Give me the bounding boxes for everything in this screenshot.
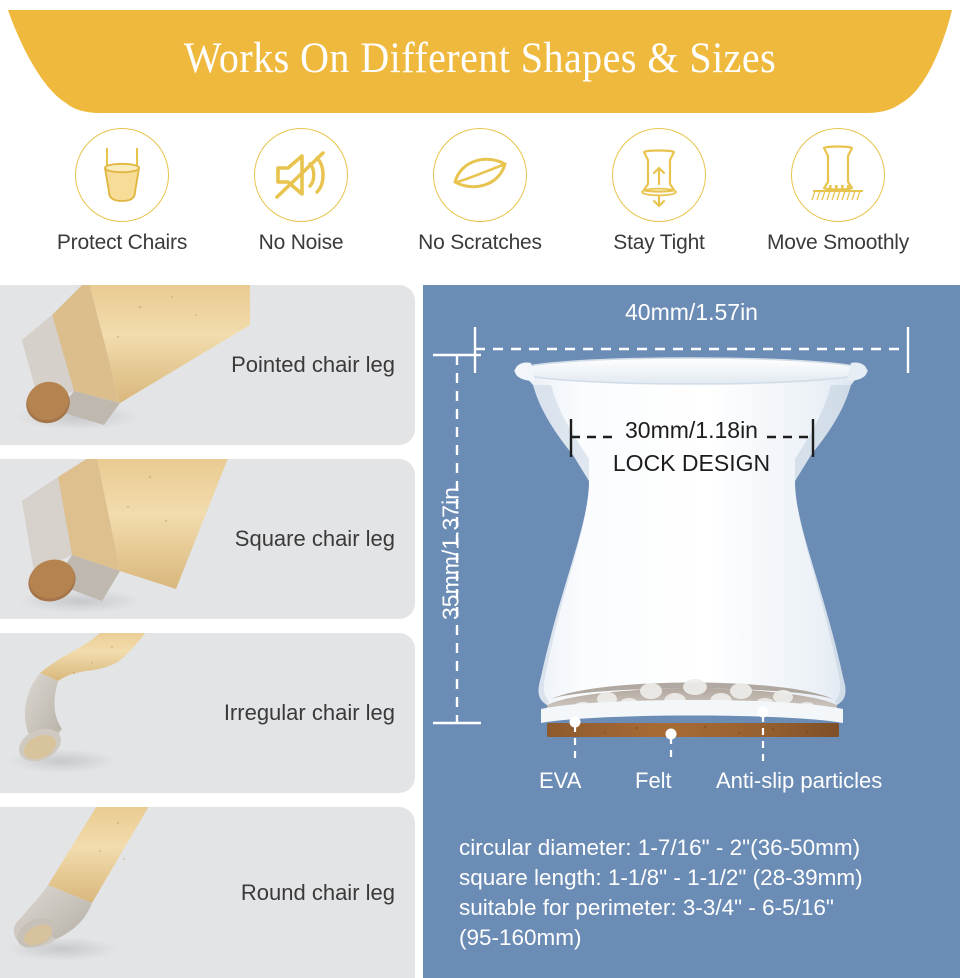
feature-move-smoothly: Move Smoothly (750, 128, 926, 268)
feature-label: No Noise (259, 231, 344, 255)
round-leg-photo (0, 807, 250, 978)
feature-label: Move Smoothly (767, 231, 909, 255)
feature-icon-circle (791, 128, 885, 222)
leg-card-round: Round chair leg (0, 807, 415, 978)
feature-no-noise: No Noise (213, 128, 389, 268)
banner: Works On Different Shapes & Sizes (0, 0, 960, 120)
height-dimension-label: 35mm/1.37in (438, 454, 465, 654)
leg-card-label: Pointed chair leg (231, 352, 395, 378)
leg-card-label: Irregular chair leg (224, 700, 395, 726)
specification-list: circular diameter: 1-7/16" - 2"(36-50mm)… (459, 833, 959, 953)
feature-stay-tight: Stay Tight (571, 128, 747, 268)
leg-card-pointed: Pointed chair leg (0, 285, 415, 445)
leaf-icon (447, 142, 513, 208)
leg-card-square: Square chair leg (0, 459, 415, 619)
lock-design-label: LOCK DESIGN (423, 450, 960, 477)
width-dimension-label: 40mm/1.57in (423, 299, 960, 326)
irregular-leg-photo (0, 633, 250, 793)
page-title: Works On Different Shapes & Sizes (34, 34, 927, 83)
feature-icon-circle (612, 128, 706, 222)
feature-label: Protect Chairs (57, 231, 187, 255)
feature-protect-chairs: Protect Chairs (34, 128, 210, 268)
leg-card-irregular: Irregular chair leg (0, 633, 415, 793)
feature-icon-circle (254, 128, 348, 222)
leg-card-label: Round chair leg (241, 880, 395, 906)
lock-width-dimension-label: 30mm/1.18in (423, 417, 960, 444)
feature-icon-circle (433, 128, 527, 222)
product-diagram (423, 285, 960, 825)
feature-icon-circle (75, 128, 169, 222)
muted-speaker-icon (268, 142, 334, 208)
leg-card-label: Square chair leg (235, 526, 395, 552)
callout-label-eva: EVA (539, 768, 581, 794)
cap-on-brush-icon (801, 138, 875, 212)
feature-label: Stay Tight (613, 231, 704, 255)
callout-label-felt: Felt (635, 768, 672, 794)
spec-panel: 40mm/1.57in 35mm/1.37in 30mm/1.18in LOCK… (423, 285, 960, 978)
spec-line: (95-160mm) (459, 923, 959, 953)
cap-updown-arrows-icon (624, 140, 694, 210)
pointed-leg-photo (0, 285, 250, 445)
spec-line: circular diameter: 1-7/16" - 2"(36-50mm) (459, 833, 959, 863)
feature-label: No Scratches (418, 231, 542, 255)
spec-line: suitable for perimeter: 3-3/4" - 6-5/16" (459, 893, 959, 923)
feature-no-scratches: No Scratches (392, 128, 568, 268)
chair-leg-cover-icon (85, 138, 159, 212)
callout-label-anti-slip-particles: Anti-slip particles (716, 768, 882, 794)
feature-row: Protect Chairs No Noise No Scratches (0, 128, 960, 268)
spec-line: square length: 1-1/8" - 1-1/2" (28-39mm) (459, 863, 959, 893)
square-leg-photo (0, 459, 250, 619)
